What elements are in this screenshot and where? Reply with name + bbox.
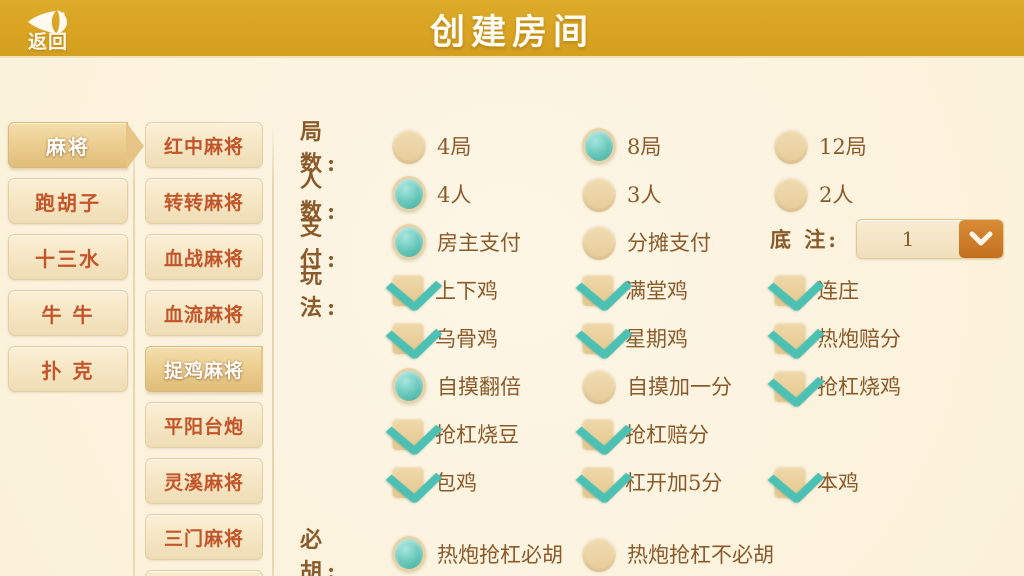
- item-label: 三门麻将: [164, 524, 244, 551]
- game-item[interactable]: 血流麻将: [145, 290, 263, 336]
- option-label: 满堂鸡: [625, 275, 688, 305]
- item-label: 捉鸡麻将: [164, 356, 244, 383]
- settings-row: 自摸翻倍自摸加一分抢杠烧鸡: [282, 362, 1024, 410]
- option-item[interactable]: 抢杠烧鸡: [774, 370, 901, 402]
- app-header: 返回 创建房间: [0, 0, 1024, 58]
- option-item[interactable]: 2人: [774, 176, 853, 212]
- option-label: 分摊支付: [627, 227, 711, 257]
- option-item[interactable]: 热炮抢杠必胡: [392, 536, 563, 572]
- radio-unselected[interactable]: [582, 176, 616, 212]
- settings-panel: 局 数:4局8局12局人 数:4人3人2人支 付:房主支付分摊支付玩 法:上下鸡…: [282, 120, 1024, 576]
- option-item[interactable]: 杠开加5分: [582, 466, 722, 498]
- settings-row: 局 数:4局8局12局: [282, 122, 1024, 170]
- settings-row: 必 胡:热炮抢杠必胡热炮抢杠不必胡: [282, 530, 1024, 576]
- category-item[interactable]: 跑胡子: [8, 178, 128, 224]
- radio-unselected[interactable]: [582, 368, 616, 404]
- option-label: 房主支付: [437, 227, 521, 257]
- item-label: 麻将: [46, 131, 90, 160]
- checkbox-checked[interactable]: [582, 466, 614, 498]
- option-label: 3人: [627, 179, 661, 209]
- option-item[interactable]: 4局: [392, 128, 471, 164]
- radio-unselected[interactable]: [774, 176, 808, 212]
- category-list: 麻将跑胡子十三水牛 牛扑 克: [8, 122, 128, 402]
- item-label: 牛 牛: [42, 299, 95, 328]
- item-label: 转转麻将: [164, 188, 244, 215]
- checkbox-checked[interactable]: [582, 418, 614, 450]
- item-label: 灵溪麻将: [164, 468, 244, 495]
- category-item[interactable]: 麻将: [8, 122, 128, 168]
- option-label: 抢杠赔分: [625, 419, 709, 449]
- radio-selected[interactable]: [582, 128, 616, 164]
- category-item[interactable]: 扑 克: [8, 346, 128, 392]
- option-item[interactable]: 自摸翻倍: [392, 368, 521, 404]
- item-label: 血流麻将: [164, 300, 244, 327]
- option-item[interactable]: 连庄: [774, 274, 859, 306]
- option-label: 本鸡: [817, 467, 859, 497]
- settings-row: 抢杠烧豆抢杠赔分: [282, 410, 1024, 458]
- checkbox-checked[interactable]: [774, 466, 806, 498]
- item-label: 红中麻将: [164, 132, 244, 159]
- option-item[interactable]: 上下鸡: [392, 274, 498, 306]
- option-item[interactable]: 抢杠赔分: [582, 418, 709, 450]
- radio-unselected[interactable]: [392, 128, 426, 164]
- option-item[interactable]: 房主支付: [392, 224, 521, 260]
- game-item[interactable]: 转转麻将: [145, 178, 263, 224]
- option-item[interactable]: 满堂鸡: [582, 274, 688, 306]
- option-label: 2人: [819, 179, 853, 209]
- option-item[interactable]: 8局: [582, 128, 661, 164]
- option-item[interactable]: 3人: [582, 176, 661, 212]
- option-label: 热炮赔分: [817, 323, 901, 353]
- ante-value: 1: [857, 220, 959, 258]
- item-label: 跑胡子: [35, 187, 101, 216]
- option-item[interactable]: 4人: [392, 176, 471, 212]
- option-label: 12局: [819, 131, 867, 161]
- item-label: 血战麻将: [164, 244, 244, 271]
- checkbox-checked[interactable]: [392, 274, 424, 306]
- radio-selected[interactable]: [392, 368, 426, 404]
- game-item[interactable]: [145, 570, 263, 576]
- ante-label-wrap: 底 注:: [770, 224, 839, 254]
- option-item[interactable]: 乌骨鸡: [392, 322, 498, 354]
- radio-selected[interactable]: [392, 224, 426, 260]
- option-item[interactable]: 星期鸡: [582, 322, 688, 354]
- option-label: 8局: [627, 131, 661, 161]
- option-label: 杠开加5分: [625, 467, 722, 497]
- settings-row-label: 玩 法:: [282, 258, 374, 322]
- page-title: 创建房间: [0, 4, 1024, 55]
- option-label: 连庄: [817, 275, 859, 305]
- checkbox-checked[interactable]: [582, 322, 614, 354]
- ante-dropdown[interactable]: 1: [856, 219, 1004, 259]
- option-label: 上下鸡: [435, 275, 498, 305]
- option-label: 自摸加一分: [627, 371, 732, 401]
- option-label: 4局: [437, 131, 471, 161]
- settings-row: 玩 法:上下鸡满堂鸡连庄: [282, 266, 1024, 314]
- chevron-down-icon[interactable]: [959, 220, 1003, 258]
- option-label: 乌骨鸡: [435, 323, 498, 353]
- item-label: 十三水: [35, 243, 101, 272]
- option-label: 抢杠烧豆: [435, 419, 519, 449]
- checkbox-checked[interactable]: [392, 322, 424, 354]
- radio-unselected[interactable]: [582, 224, 616, 260]
- game-item[interactable]: 血战麻将: [145, 234, 263, 280]
- game-item[interactable]: 红中麻将: [145, 122, 263, 168]
- category-item[interactable]: 牛 牛: [8, 290, 128, 336]
- game-item[interactable]: 平阳台炮: [145, 402, 263, 448]
- checkbox-checked[interactable]: [392, 466, 424, 498]
- option-label: 热炮抢杠必胡: [437, 539, 563, 569]
- checkbox-checked[interactable]: [774, 274, 806, 306]
- radio-unselected[interactable]: [774, 128, 808, 164]
- divider-left: [133, 124, 135, 576]
- option-label: 自摸翻倍: [437, 371, 521, 401]
- checkbox-checked[interactable]: [774, 370, 806, 402]
- option-label: 包鸡: [435, 467, 477, 497]
- checkbox-checked[interactable]: [582, 274, 614, 306]
- option-label: 4人: [437, 179, 471, 209]
- radio-selected[interactable]: [392, 536, 426, 572]
- option-item[interactable]: 抢杠烧豆: [392, 418, 519, 450]
- settings-row: 乌骨鸡星期鸡热炮赔分: [282, 314, 1024, 362]
- option-item[interactable]: 热炮赔分: [774, 322, 901, 354]
- game-item[interactable]: 灵溪麻将: [145, 458, 263, 504]
- option-label: 星期鸡: [625, 323, 688, 353]
- option-item[interactable]: 12局: [774, 128, 867, 164]
- option-item[interactable]: 包鸡: [392, 466, 477, 498]
- item-label: 扑 克: [42, 355, 95, 384]
- option-item[interactable]: 本鸡: [774, 466, 859, 498]
- settings-row-label: 必 胡:: [282, 522, 374, 576]
- option-item[interactable]: 热炮抢杠不必胡: [582, 536, 774, 572]
- checkbox-checked[interactable]: [774, 322, 806, 354]
- option-item[interactable]: 分摊支付: [582, 224, 711, 260]
- radio-unselected[interactable]: [582, 536, 616, 572]
- option-label: 热炮抢杠不必胡: [627, 539, 774, 569]
- content-area: 麻将跑胡子十三水牛 牛扑 克 红中麻将转转麻将血战麻将血流麻将捉鸡麻将平阳台炮灵…: [0, 60, 1024, 576]
- category-item[interactable]: 十三水: [8, 234, 128, 280]
- game-item[interactable]: 捉鸡麻将: [145, 346, 263, 392]
- game-list: 红中麻将转转麻将血战麻将血流麻将捉鸡麻将平阳台炮灵溪麻将三门麻将: [145, 122, 263, 576]
- option-item[interactable]: 自摸加一分: [582, 368, 732, 404]
- settings-row: 包鸡杠开加5分本鸡: [282, 458, 1024, 506]
- divider-right: [272, 124, 274, 576]
- radio-selected[interactable]: [392, 176, 426, 212]
- option-label: 抢杠烧鸡: [817, 371, 901, 401]
- item-label: 平阳台炮: [164, 412, 244, 439]
- ante-label: 底 注:: [770, 224, 839, 254]
- settings-row: 人 数:4人3人2人: [282, 170, 1024, 218]
- game-item[interactable]: 三门麻将: [145, 514, 263, 560]
- checkbox-checked[interactable]: [392, 418, 424, 450]
